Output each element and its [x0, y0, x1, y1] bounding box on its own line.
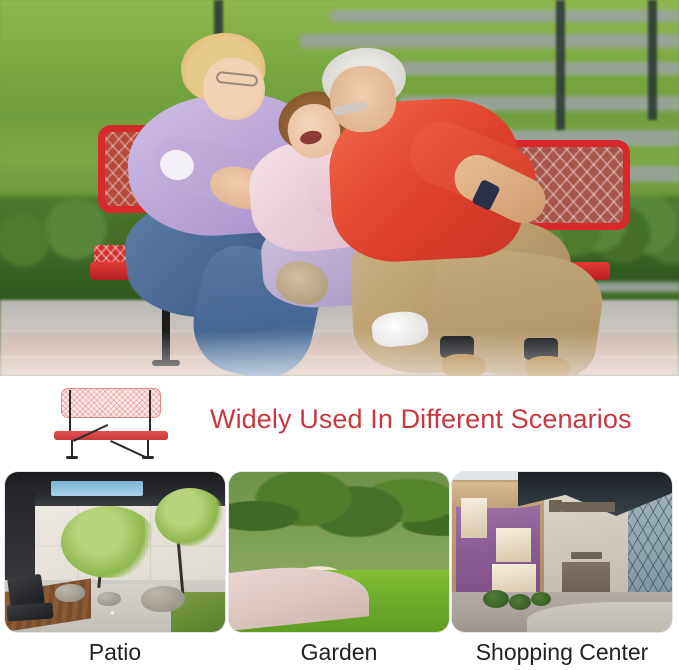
mall-display-window-lower [496, 528, 531, 562]
lamp-post-mid [556, 0, 565, 130]
mall-entrance-sign [562, 502, 615, 512]
mall-logo-plate [549, 500, 562, 512]
mall-solana-sign [571, 552, 602, 559]
patio-rock-large [141, 586, 185, 612]
garden-scene [229, 472, 449, 632]
park-bench-icon [47, 386, 175, 458]
scenario-label-garden: Garden [229, 638, 449, 666]
bench-icon-backrest [61, 388, 161, 418]
lamp-post-right [648, 0, 657, 120]
patio-lounge-chair-seat [6, 602, 53, 621]
patio-tree-foliage-left [61, 506, 157, 578]
mall-shrub-left [483, 590, 509, 608]
bench-icon-brace-right [110, 440, 145, 458]
scenario-thumbnail-shopping-center[interactable] [452, 472, 672, 632]
banner-headline: Widely Used In Different Scenarios [210, 402, 670, 436]
scenario-thumbnail-patio[interactable] [5, 472, 225, 632]
bench-icon-seat [54, 431, 168, 440]
bench-icon-foot-left [66, 456, 78, 459]
bench-foot [152, 360, 180, 366]
mall-display-window-upper [461, 498, 487, 538]
patio-scene [5, 472, 225, 632]
bench-icon-post-left [69, 390, 71, 434]
patio-rock-small [97, 592, 121, 606]
scenario-label-patio: Patio [5, 638, 225, 666]
mall-glass-atrium [624, 494, 672, 606]
bench-icon-post-right [149, 390, 151, 434]
patio-tree-foliage-right [155, 488, 225, 546]
scenario-thumbnail-row [0, 470, 679, 636]
shopping-center-scene [452, 472, 672, 632]
hero-product-photo [0, 0, 679, 376]
patio-rock-mid [55, 584, 85, 602]
scenario-label-shopping-center: Shopping Center [452, 638, 672, 666]
bench-icon-foot-right [142, 456, 154, 459]
scenario-thumbnail-garden[interactable] [229, 472, 449, 632]
patio-sky-gap [51, 481, 143, 496]
grandfather-shoe-left [442, 354, 486, 376]
grandfather-shoe-right [526, 356, 570, 376]
